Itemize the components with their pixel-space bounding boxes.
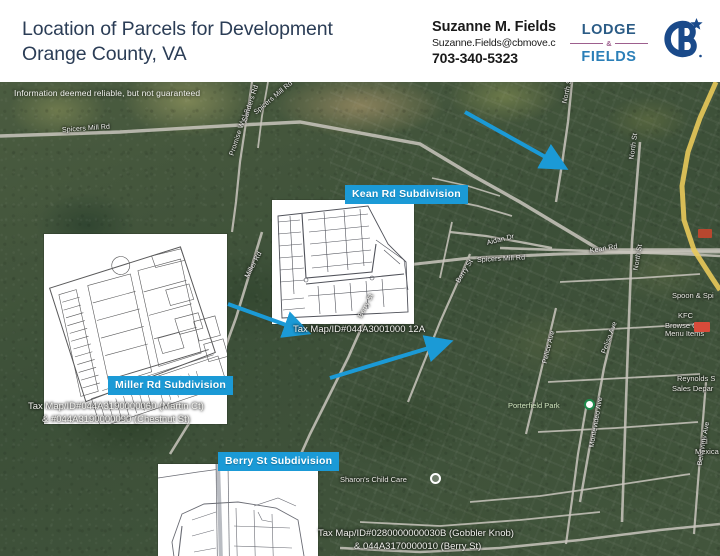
business-marker-chip <box>694 322 710 332</box>
tax-id-label-kean: Tax Map/ID#044A3001000 12A <box>293 324 425 337</box>
kean-rd-plat-inset[interactable] <box>272 200 414 324</box>
miller-rd-plat-inset[interactable] <box>44 234 227 424</box>
poi-label[interactable]: Reynolds S <box>677 374 715 383</box>
callout-miller-rd-subdivision[interactable]: Miller Rd Subdivision <box>108 376 233 395</box>
poi-label[interactable]: Spoon & Spi <box>672 291 714 300</box>
fields-wordmark-bottom: FIELDS <box>570 49 648 65</box>
agent-contact-block: Suzanne M. Fields Suzanne.Fields@cbmove.… <box>432 19 572 67</box>
header-bar: Location of Parcels for Development Oran… <box>0 0 720 82</box>
rule-left <box>570 43 603 44</box>
route-shield-chip <box>698 229 712 238</box>
poi-label[interactable]: Porterfield Park <box>508 401 560 410</box>
tax-id-berry-line1: Tax Map/ID#0280000000030B (Gobbler Knob) <box>318 528 514 539</box>
tax-id-miller-line1: Tax Map/ID#044A3190000060 (Martin Ct) <box>28 401 204 412</box>
page-title: Location of Parcels for Development Oran… <box>22 17 422 67</box>
page-title-line2: Orange County, VA <box>22 42 422 67</box>
lodge-ampersand-row: & <box>570 39 648 48</box>
callout-berry-st-subdivision[interactable]: Berry St Subdivision <box>218 452 339 471</box>
agent-email[interactable]: Suzanne.Fields@cbmove.c <box>432 36 565 50</box>
poi-label[interactable]: Mexica <box>695 447 719 456</box>
satellite-map[interactable]: Information deemed reliable, but not gua… <box>0 82 720 556</box>
agent-phone[interactable]: 703-340-5323 <box>432 50 572 67</box>
poi-label[interactable]: Sharon's Child Care <box>340 475 407 484</box>
poi-marker-icon[interactable] <box>430 473 441 484</box>
tax-id-miller-line2: & #044A3190000090 (Chestnut St) <box>28 414 204 427</box>
tax-id-berry-line2: & 044A3170000010 (Berry St) <box>318 541 514 554</box>
tax-id-label-miller: Tax Map/ID#044A3190000060 (Martin Ct) & … <box>28 401 204 426</box>
berry-st-plat-inset[interactable] <box>158 464 318 556</box>
map-disclaimer: Information deemed reliable, but not gua… <box>14 88 200 98</box>
poi-label[interactable]: KFC <box>678 311 693 320</box>
poi-label[interactable]: Sales Depar <box>672 384 713 393</box>
poi-label[interactable]: El <box>701 437 708 446</box>
lodge-wordmark-top: LODGE <box>570 22 648 38</box>
callout-kean-rd-subdivision[interactable]: Kean Rd Subdivision <box>345 185 468 204</box>
rule-right <box>615 43 648 44</box>
agent-name: Suzanne M. Fields <box>432 19 572 36</box>
lodge-and-fields-logo: LODGE & FIELDS <box>570 22 648 65</box>
listing-map-slide: Location of Parcels for Development Oran… <box>0 0 720 556</box>
page-title-line1: Location of Parcels for Development <box>22 18 333 40</box>
coldwell-banker-logo <box>658 16 704 62</box>
ampersand-glyph: & <box>606 39 611 48</box>
tax-id-label-berry: Tax Map/ID#0280000000030B (Gobbler Knob)… <box>318 528 514 553</box>
tax-id-kean-line1: Tax Map/ID#044A3001000 12A <box>293 324 425 335</box>
